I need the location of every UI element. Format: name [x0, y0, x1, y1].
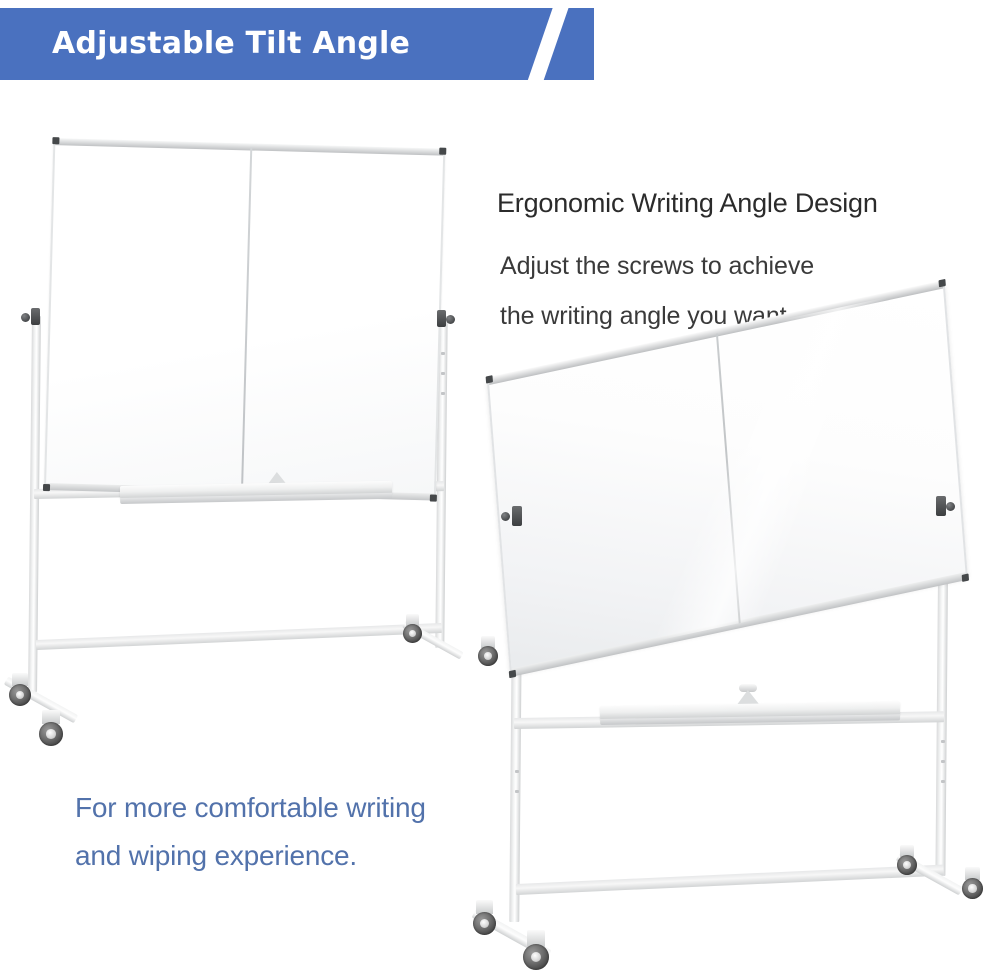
corner-cap-icon — [962, 573, 969, 581]
right-board-height-holes — [941, 740, 945, 800]
benefit-line-1: For more comfortable writing — [75, 792, 426, 824]
product-feature-image: Adjustable Tilt Angle — [0, 0, 996, 976]
right-board-caster — [897, 855, 917, 875]
right-board-surface — [487, 283, 968, 674]
caster-hub — [968, 884, 976, 892]
corner-cap-icon — [509, 670, 516, 678]
benefit-line-2: and wiping experience. — [75, 840, 357, 872]
corner-cap-icon — [938, 279, 945, 287]
right-board-tilt-screw-left[interactable] — [512, 506, 522, 526]
right-board-height-holes — [515, 770, 519, 810]
right-board-bottom-rail — [512, 572, 966, 677]
right-board-caster — [962, 878, 983, 899]
right-board-marker-tray — [600, 701, 900, 720]
right-whiteboard — [0, 0, 996, 976]
right-board-caster — [523, 944, 549, 970]
knob-plate — [512, 506, 522, 526]
right-board-lower-crossbar — [516, 865, 944, 895]
knob-plate — [936, 496, 946, 516]
corner-cap-icon — [486, 375, 493, 383]
right-board-panel-seam — [716, 333, 741, 623]
knob-bolt-icon — [946, 502, 955, 511]
knob-bolt-icon — [501, 512, 510, 521]
caster-hub — [903, 861, 911, 869]
right-board-caster — [473, 912, 496, 935]
right-board-tilt-screw-right[interactable] — [936, 496, 946, 516]
